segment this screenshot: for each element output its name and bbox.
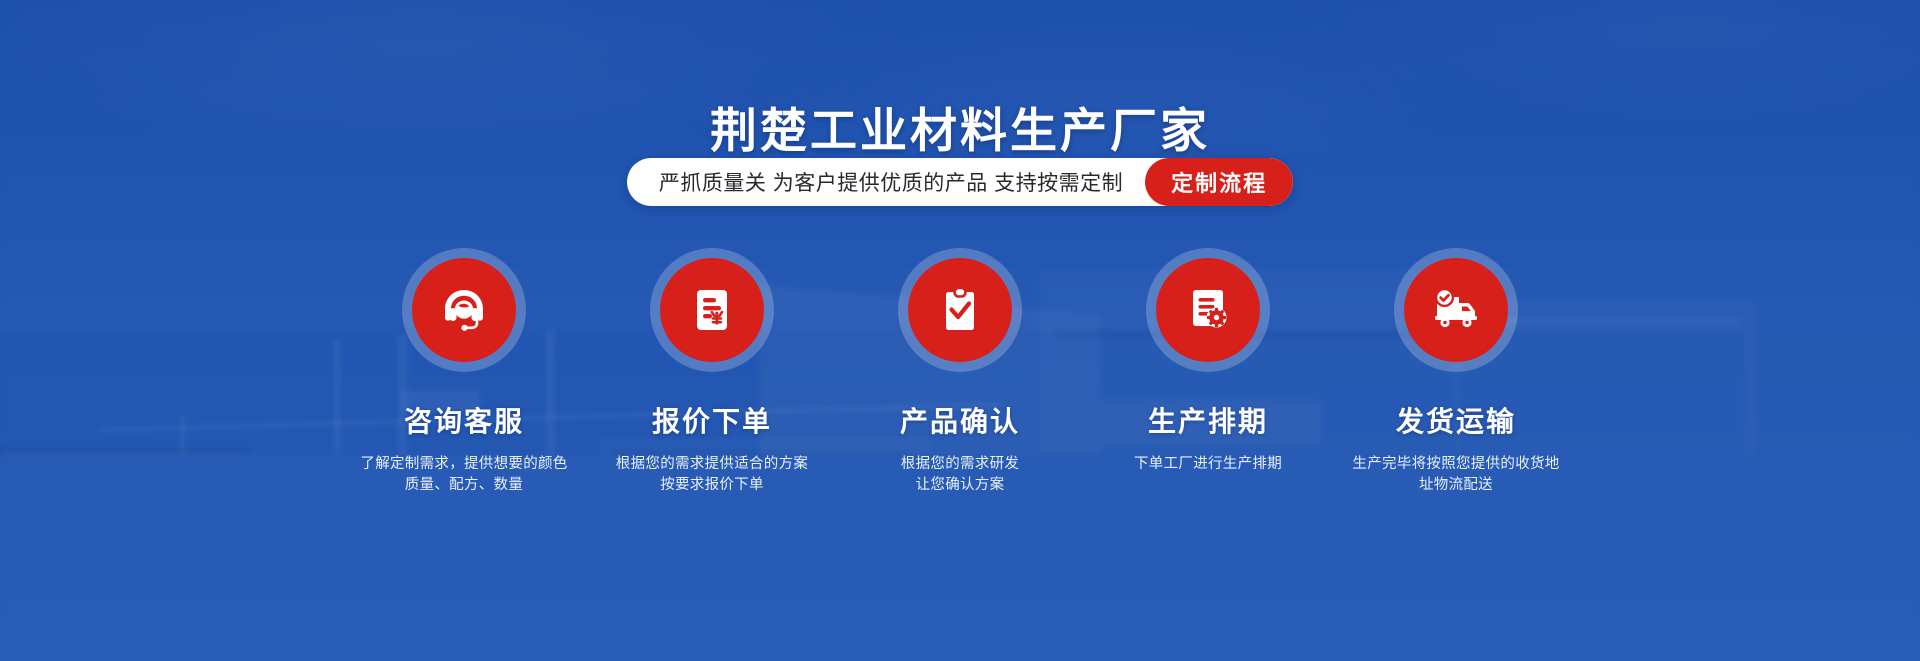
delivery-truck-check-icon	[1427, 281, 1485, 339]
step-icon-button[interactable]	[660, 258, 764, 362]
step-icon-button[interactable]	[412, 258, 516, 362]
invoice-yuan-icon	[686, 284, 738, 336]
step-description-line1: 根据您的需求提供适合的方案	[616, 454, 808, 475]
tagline-pill-wrapper: 严抓质量关 为客户提供优质的产品 支持按需定制 定制流程	[0, 158, 1920, 206]
process-steps: 咨询客服 了解定制需求，提供想要的颜色 质量、配方、数量	[0, 248, 1920, 496]
step-description-line2: 质量、配方、数量	[360, 475, 567, 496]
icon-ring	[1146, 248, 1270, 372]
document-gear-icon	[1182, 284, 1234, 336]
step-description-line1: 了解定制需求，提供想要的颜色	[360, 454, 567, 475]
step-title: 咨询客服	[404, 400, 524, 440]
step-title: 产品确认	[900, 400, 1020, 440]
icon-ring	[402, 248, 526, 372]
step-item[interactable]: 发货运输 生产完毕将按照您提供的收货地 址物流配送	[1332, 248, 1580, 496]
step-description: 根据您的需求提供适合的方案 按要求报价下单	[616, 454, 808, 496]
page-title: 荆楚工业材料生产厂家	[0, 92, 1920, 161]
tagline-pill: 严抓质量关 为客户提供优质的产品 支持按需定制 定制流程	[627, 158, 1293, 206]
step-item[interactable]: 生产排期 下单工厂进行生产排期	[1084, 248, 1332, 475]
step-icon-button[interactable]	[1404, 258, 1508, 362]
step-item[interactable]: 产品确认 根据您的需求研发 让您确认方案	[836, 248, 1084, 496]
tagline-text: 严抓质量关 为客户提供优质的产品 支持按需定制	[627, 158, 1145, 206]
promo-banner: 荆楚工业材料生产厂家 严抓质量关 为客户提供优质的产品 支持按需定制 定制流程	[0, 0, 1920, 661]
step-description: 生产完毕将按照您提供的收货地 址物流配送	[1352, 454, 1559, 496]
step-description-line2: 按要求报价下单	[616, 475, 808, 496]
step-description-line2: 址物流配送	[1352, 475, 1559, 496]
step-item[interactable]: 报价下单 根据您的需求提供适合的方案 按要求报价下单	[588, 248, 836, 496]
step-description-line1: 下单工厂进行生产排期	[1134, 454, 1282, 475]
step-title: 报价下单	[652, 400, 772, 440]
step-icon-button[interactable]	[1156, 258, 1260, 362]
step-description-line2: 让您确认方案	[901, 475, 1019, 496]
icon-ring	[1394, 248, 1518, 372]
step-title: 发货运输	[1396, 400, 1516, 440]
step-item[interactable]: 咨询客服 了解定制需求，提供想要的颜色 质量、配方、数量	[340, 248, 588, 496]
headset-support-icon	[436, 282, 492, 338]
step-title: 生产排期	[1148, 400, 1268, 440]
step-description: 了解定制需求，提供想要的颜色 质量、配方、数量	[360, 454, 567, 496]
custom-process-button[interactable]: 定制流程	[1145, 158, 1293, 206]
step-icon-button[interactable]	[908, 258, 1012, 362]
step-description: 根据您的需求研发 让您确认方案	[901, 454, 1019, 496]
icon-ring	[898, 248, 1022, 372]
icon-ring	[650, 248, 774, 372]
step-description: 下单工厂进行生产排期	[1134, 454, 1282, 475]
step-description-line1: 生产完毕将按照您提供的收货地	[1352, 454, 1559, 475]
step-description-line1: 根据您的需求研发	[901, 454, 1019, 475]
clipboard-check-icon	[934, 284, 986, 336]
